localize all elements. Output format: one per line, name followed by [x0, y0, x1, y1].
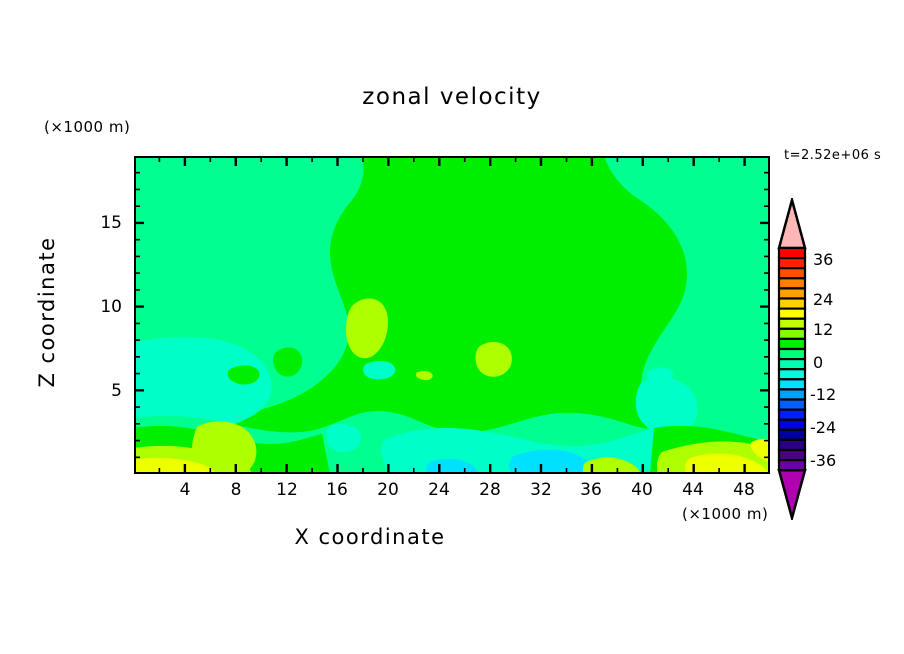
y-axis-title: Z coordinate	[35, 202, 59, 422]
x-tick-label: 8	[216, 480, 256, 500]
y-tick-label: 5	[82, 381, 122, 401]
colorbar-over-arrow	[779, 200, 805, 248]
x-tick-label: 48	[724, 480, 764, 500]
colorbar-tick-label: 36	[813, 250, 833, 269]
x-tick-label: 16	[317, 480, 357, 500]
page-title: zonal velocity	[0, 84, 904, 110]
x-tick-label: 32	[521, 480, 561, 500]
x-tick-label: 44	[673, 480, 713, 500]
y-axis-unit-label: (×1000 m)	[44, 118, 130, 136]
x-tick-label: 28	[470, 480, 510, 500]
timestamp-label: t=2.52e+06 s	[784, 148, 881, 163]
x-tick-label: 20	[368, 480, 408, 500]
figure-canvas: zonal velocity (×1000 m) (×1000 m) t=2.5…	[0, 0, 904, 654]
x-axis-title: X coordinate	[0, 525, 740, 549]
colorbar-tick-label: -12	[810, 385, 836, 404]
contour-plot	[134, 156, 770, 474]
x-tick-label: 36	[571, 480, 611, 500]
colorbar-tick-label: -24	[810, 418, 836, 437]
x-tick-label: 4	[165, 480, 205, 500]
y-tick-label: 10	[82, 297, 122, 317]
x-tick-label: 24	[419, 480, 459, 500]
colorbar-bands	[779, 248, 805, 470]
x-tick-label: 12	[267, 480, 307, 500]
x-tick-label: 40	[622, 480, 662, 500]
colorbar[interactable]	[774, 198, 814, 520]
x-axis-unit-label: (×1000 m)	[682, 505, 768, 523]
colorbar-under-arrow	[779, 470, 805, 518]
colorbar-tick-label: -36	[810, 451, 836, 470]
colorbar-tick-label: 24	[813, 290, 833, 309]
y-tick-label: 15	[82, 213, 122, 233]
colorbar-tick-label: 12	[813, 320, 833, 339]
colorbar-tick-label: 0	[813, 353, 823, 372]
